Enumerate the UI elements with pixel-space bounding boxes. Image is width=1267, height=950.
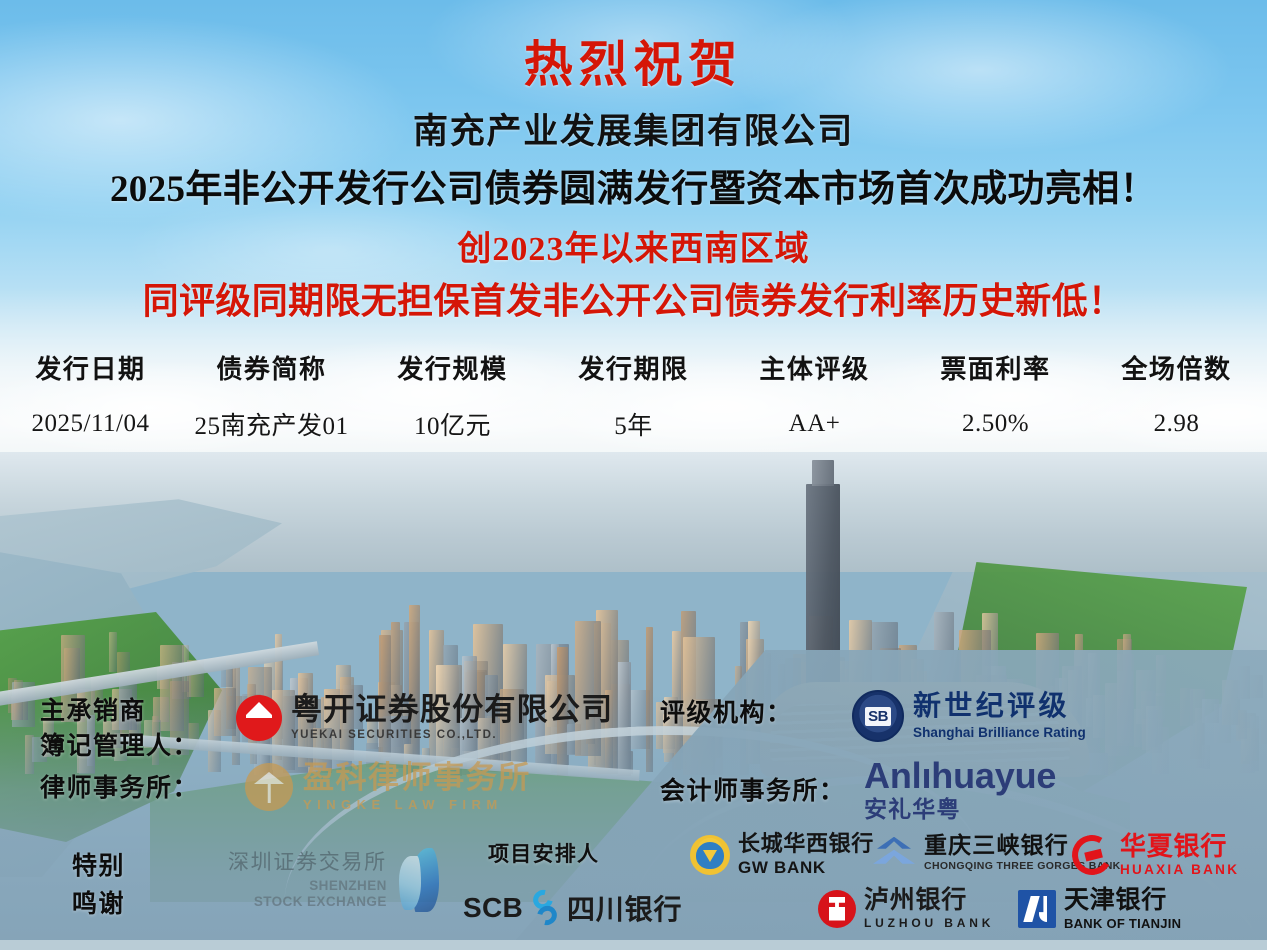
szse-name-en-1: SHENZHEN — [309, 879, 387, 893]
yuekai-name-cn: 粤开证券股份有限公司 — [291, 694, 613, 725]
sichuan-bank-abbr: SCB — [463, 892, 523, 924]
luzhou-bank-icon — [818, 890, 856, 928]
issuance-announcement-line: 2025年非公开发行公司债券圆满发行暨资本市场首次成功亮相！ — [0, 171, 1267, 210]
table-row: 2025/11/04 25南充产发01 10亿元 5年 AA+ 2.50% 2.… — [0, 406, 1267, 442]
special-thanks-line2: 鸣谢 — [72, 886, 125, 924]
bank-of-tianjin-text: 天津银行 BANK OF TIANJIN — [1064, 888, 1181, 930]
shanghai-brilliance-rating-logo: SB 新世纪评级 Shanghai Brilliance Rating — [852, 690, 1086, 742]
record-line-1: 创2023年以来西南区域 — [0, 232, 1267, 268]
val-tenor: 5年 — [543, 406, 724, 442]
szse-name-en-2: STOCK EXCHANGE — [254, 895, 387, 909]
bank-of-tianjin-name-cn: 天津银行 — [1064, 888, 1181, 913]
col-bond-name: 债券简称 — [181, 345, 362, 406]
underwriter-label-line2: 簿记管理人： — [40, 730, 199, 765]
szse-name-cn: 深圳证券交易所 — [228, 852, 387, 873]
table-header-row: 发行日期 债券简称 发行规模 发行期限 主体评级 票面利率 全场倍数 — [0, 345, 1267, 406]
bank-of-tianjin-logo: 天津银行 BANK OF TIANJIN — [1018, 888, 1181, 930]
col-subscription-multiple: 全场倍数 — [1086, 345, 1267, 406]
gw-bank-name-en: GW BANK — [738, 859, 874, 876]
issuer-company-name: 南充产业发展集团有限公司 — [0, 114, 1267, 151]
val-subscription-multiple: 2.98 — [1086, 406, 1267, 442]
congratulations-poster: 热烈祝贺 南充产业发展集团有限公司 2025年非公开发行公司债券圆满发行暨资本市… — [0, 0, 1267, 950]
col-coupon-rate: 票面利率 — [905, 345, 1086, 406]
yuekai-name-en: YUEKAI SECURITIES CO.,LTD. — [291, 730, 613, 742]
brilliance-name-cn: 新世纪评级 — [913, 693, 1086, 721]
brilliance-seal-icon: SB — [852, 690, 904, 742]
val-issuer-rating: AA+ — [724, 406, 905, 442]
congrats-title: 热烈祝贺 — [0, 40, 1267, 89]
yingke-logo-text: 盈科律师事务所 YINGKE LAW FIRM — [303, 762, 531, 811]
luzhou-bank-text: 泸州银行 LUZHOU BANK — [864, 888, 994, 929]
underwriter-label: 主承销商 簿记管理人： — [40, 695, 199, 764]
bank-of-tianjin-icon — [1018, 890, 1056, 928]
col-issue-date: 发行日期 — [0, 345, 181, 406]
gw-bank-text: 长城华西银行 GW BANK — [738, 833, 874, 876]
yingke-cube-icon — [245, 763, 293, 811]
yingke-law-firm-logo: 盈科律师事务所 YINGKE LAW FIRM — [245, 762, 531, 811]
underwriter-label-line1: 主承销商 — [40, 695, 199, 730]
yingke-name-cn: 盈科律师事务所 — [303, 762, 531, 793]
bank-of-tianjin-name-en: BANK OF TIANJIN — [1064, 917, 1181, 930]
yuekai-logo-text: 粤开证券股份有限公司 YUEKAI SECURITIES CO.,LTD. — [291, 694, 613, 742]
auditor-label: 会计师事务所： — [660, 775, 846, 810]
bond-deal-table: 发行日期 债券简称 发行规模 发行期限 主体评级 票面利率 全场倍数 2025/… — [0, 345, 1267, 442]
val-coupon-rate: 2.50% — [905, 406, 1086, 442]
huaxia-bank-name-cn: 华夏银行 — [1120, 833, 1239, 859]
record-line-2: 同评级同期限无担保首发非公开公司债券发行利率历史新低！ — [0, 283, 1267, 321]
luzhou-bank-logo: 泸州银行 LUZHOU BANK — [818, 888, 994, 929]
law-firm-label: 律师事务所： — [40, 772, 199, 807]
anlihuayue-name-en: Anlıhuayue — [864, 758, 1056, 794]
anlihuayue-logo: Anlıhuayue 安礼华粤 — [864, 758, 1056, 821]
yuekai-securities-logo: 粤开证券股份有限公司 YUEKAI SECURITIES CO.,LTD. — [236, 694, 613, 742]
luzhou-bank-name-en: LUZHOU BANK — [864, 917, 994, 929]
gw-bank-icon — [690, 835, 730, 875]
col-tenor: 发行期限 — [543, 345, 724, 406]
val-issue-size: 10亿元 — [362, 406, 543, 442]
val-bond-name: 25南充产发01 — [181, 406, 362, 442]
project-arranger-label: 项目安排人 — [488, 838, 599, 868]
yuekai-mark-icon — [236, 695, 282, 741]
val-issue-date: 2025/11/04 — [0, 406, 181, 442]
rating-agency-label: 评级机构： — [660, 697, 793, 732]
shenzhen-stock-exchange-logo: 深圳证券交易所 SHENZHEN STOCK EXCHANGE — [228, 848, 441, 912]
huaxia-bank-text: 华夏银行 HUAXIA BANK — [1120, 833, 1239, 877]
huaxia-bank-icon — [1068, 831, 1116, 879]
szse-leaf-icon — [397, 848, 441, 912]
special-thanks-label: 特别 鸣谢 — [72, 848, 125, 923]
brilliance-logo-text: 新世纪评级 Shanghai Brilliance Rating — [913, 693, 1086, 740]
three-gorges-bank-icon — [872, 835, 916, 871]
col-issue-size: 发行规模 — [362, 345, 543, 406]
special-thanks-line1: 特别 — [72, 848, 125, 886]
headline-block: 热烈祝贺 南充产业发展集团有限公司 2025年非公开发行公司债券圆满发行暨资本市… — [0, 0, 1267, 321]
gw-bank-logo: 长城华西银行 GW BANK — [690, 833, 874, 876]
gw-bank-name-cn: 长城华西银行 — [738, 833, 874, 855]
yingke-name-en: YINGKE LAW FIRM — [303, 798, 531, 811]
szse-logo-text: 深圳证券交易所 SHENZHEN STOCK EXCHANGE — [228, 852, 387, 908]
brilliance-name-en: Shanghai Brilliance Rating — [913, 726, 1086, 740]
bottom-edge-strip — [0, 940, 1267, 950]
luzhou-bank-name-cn: 泸州银行 — [864, 888, 994, 913]
anlihuayue-name-cn: 安礼华粤 — [864, 798, 1056, 821]
huaxia-bank-name-en: HUAXIA BANK — [1120, 863, 1239, 877]
brilliance-seal-monogram: SB — [865, 707, 891, 726]
sichuan-bank-logo: SCB 四川银行 — [463, 888, 682, 928]
sichuan-bank-icon — [530, 891, 560, 925]
col-issuer-rating: 主体评级 — [724, 345, 905, 406]
sichuan-bank-name-cn: 四川银行 — [567, 888, 682, 928]
huaxia-bank-logo: 华夏银行 HUAXIA BANK — [1072, 833, 1239, 877]
